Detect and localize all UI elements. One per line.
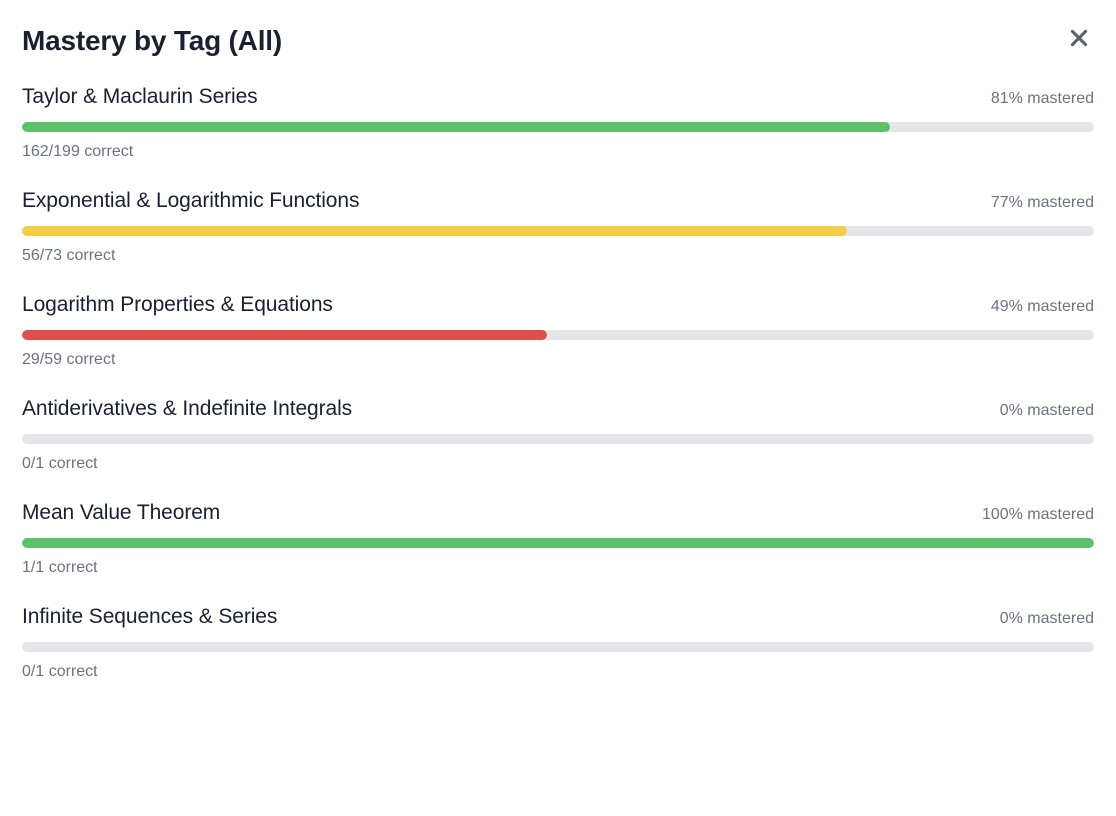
tag-mastery-percent: 81% mastered [975, 89, 1094, 109]
tag-row-header: Logarithm Properties & Equations 49% mas… [22, 292, 1094, 318]
progress-bar-fill [22, 538, 1094, 548]
tag-correct-count: 1/1 correct [22, 558, 1094, 578]
tag-mastery-percent: 100% mastered [966, 505, 1094, 525]
tag-row-header: Exponential & Logarithmic Functions 77% … [22, 188, 1094, 214]
tag-name: Infinite Sequences & Series [22, 604, 277, 630]
close-icon [1068, 27, 1090, 52]
tag-correct-count: 162/199 correct [22, 142, 1094, 162]
progress-bar-track [22, 226, 1094, 236]
progress-bar-track [22, 330, 1094, 340]
tag-correct-count: 56/73 correct [22, 246, 1094, 266]
list-item: Antiderivatives & Indefinite Integrals 0… [22, 396, 1094, 474]
tag-name: Mean Value Theorem [22, 500, 220, 526]
tag-correct-count: 29/59 correct [22, 350, 1094, 370]
tag-row-header: Antiderivatives & Indefinite Integrals 0… [22, 396, 1094, 422]
panel-header: Mastery by Tag (All) [22, 0, 1094, 62]
tag-name: Antiderivatives & Indefinite Integrals [22, 396, 352, 422]
tag-mastery-percent: 0% mastered [984, 609, 1094, 629]
tag-row-header: Mean Value Theorem 100% mastered [22, 500, 1094, 526]
progress-bar-track [22, 642, 1094, 652]
list-item: Exponential & Logarithmic Functions 77% … [22, 188, 1094, 266]
tag-correct-count: 0/1 correct [22, 662, 1094, 682]
mastery-by-tag-panel: Mastery by Tag (All) Taylor & Maclaurin … [0, 0, 1116, 816]
list-item: Infinite Sequences & Series 0% mastered … [22, 604, 1094, 682]
tag-mastery-percent: 49% mastered [975, 297, 1094, 317]
list-item: Taylor & Maclaurin Series 81% mastered 1… [22, 84, 1094, 162]
progress-bar-track [22, 122, 1094, 132]
tag-row-header: Taylor & Maclaurin Series 81% mastered [22, 84, 1094, 110]
page-title: Mastery by Tag (All) [22, 24, 282, 58]
progress-bar-track [22, 538, 1094, 548]
list-item: Mean Value Theorem 100% mastered 1/1 cor… [22, 500, 1094, 578]
tag-mastery-percent: 0% mastered [984, 401, 1094, 421]
list-item: Logarithm Properties & Equations 49% mas… [22, 292, 1094, 370]
progress-bar-fill [22, 122, 890, 132]
tag-correct-count: 0/1 correct [22, 454, 1094, 474]
tag-mastery-list: Taylor & Maclaurin Series 81% mastered 1… [22, 84, 1094, 682]
progress-bar-track [22, 434, 1094, 444]
progress-bar-fill [22, 330, 547, 340]
tag-mastery-percent: 77% mastered [975, 193, 1094, 213]
tag-row-header: Infinite Sequences & Series 0% mastered [22, 604, 1094, 630]
tag-name: Logarithm Properties & Equations [22, 292, 333, 318]
tag-name: Taylor & Maclaurin Series [22, 84, 258, 110]
tag-name: Exponential & Logarithmic Functions [22, 188, 359, 214]
progress-bar-fill [22, 226, 847, 236]
close-button[interactable] [1062, 22, 1096, 56]
